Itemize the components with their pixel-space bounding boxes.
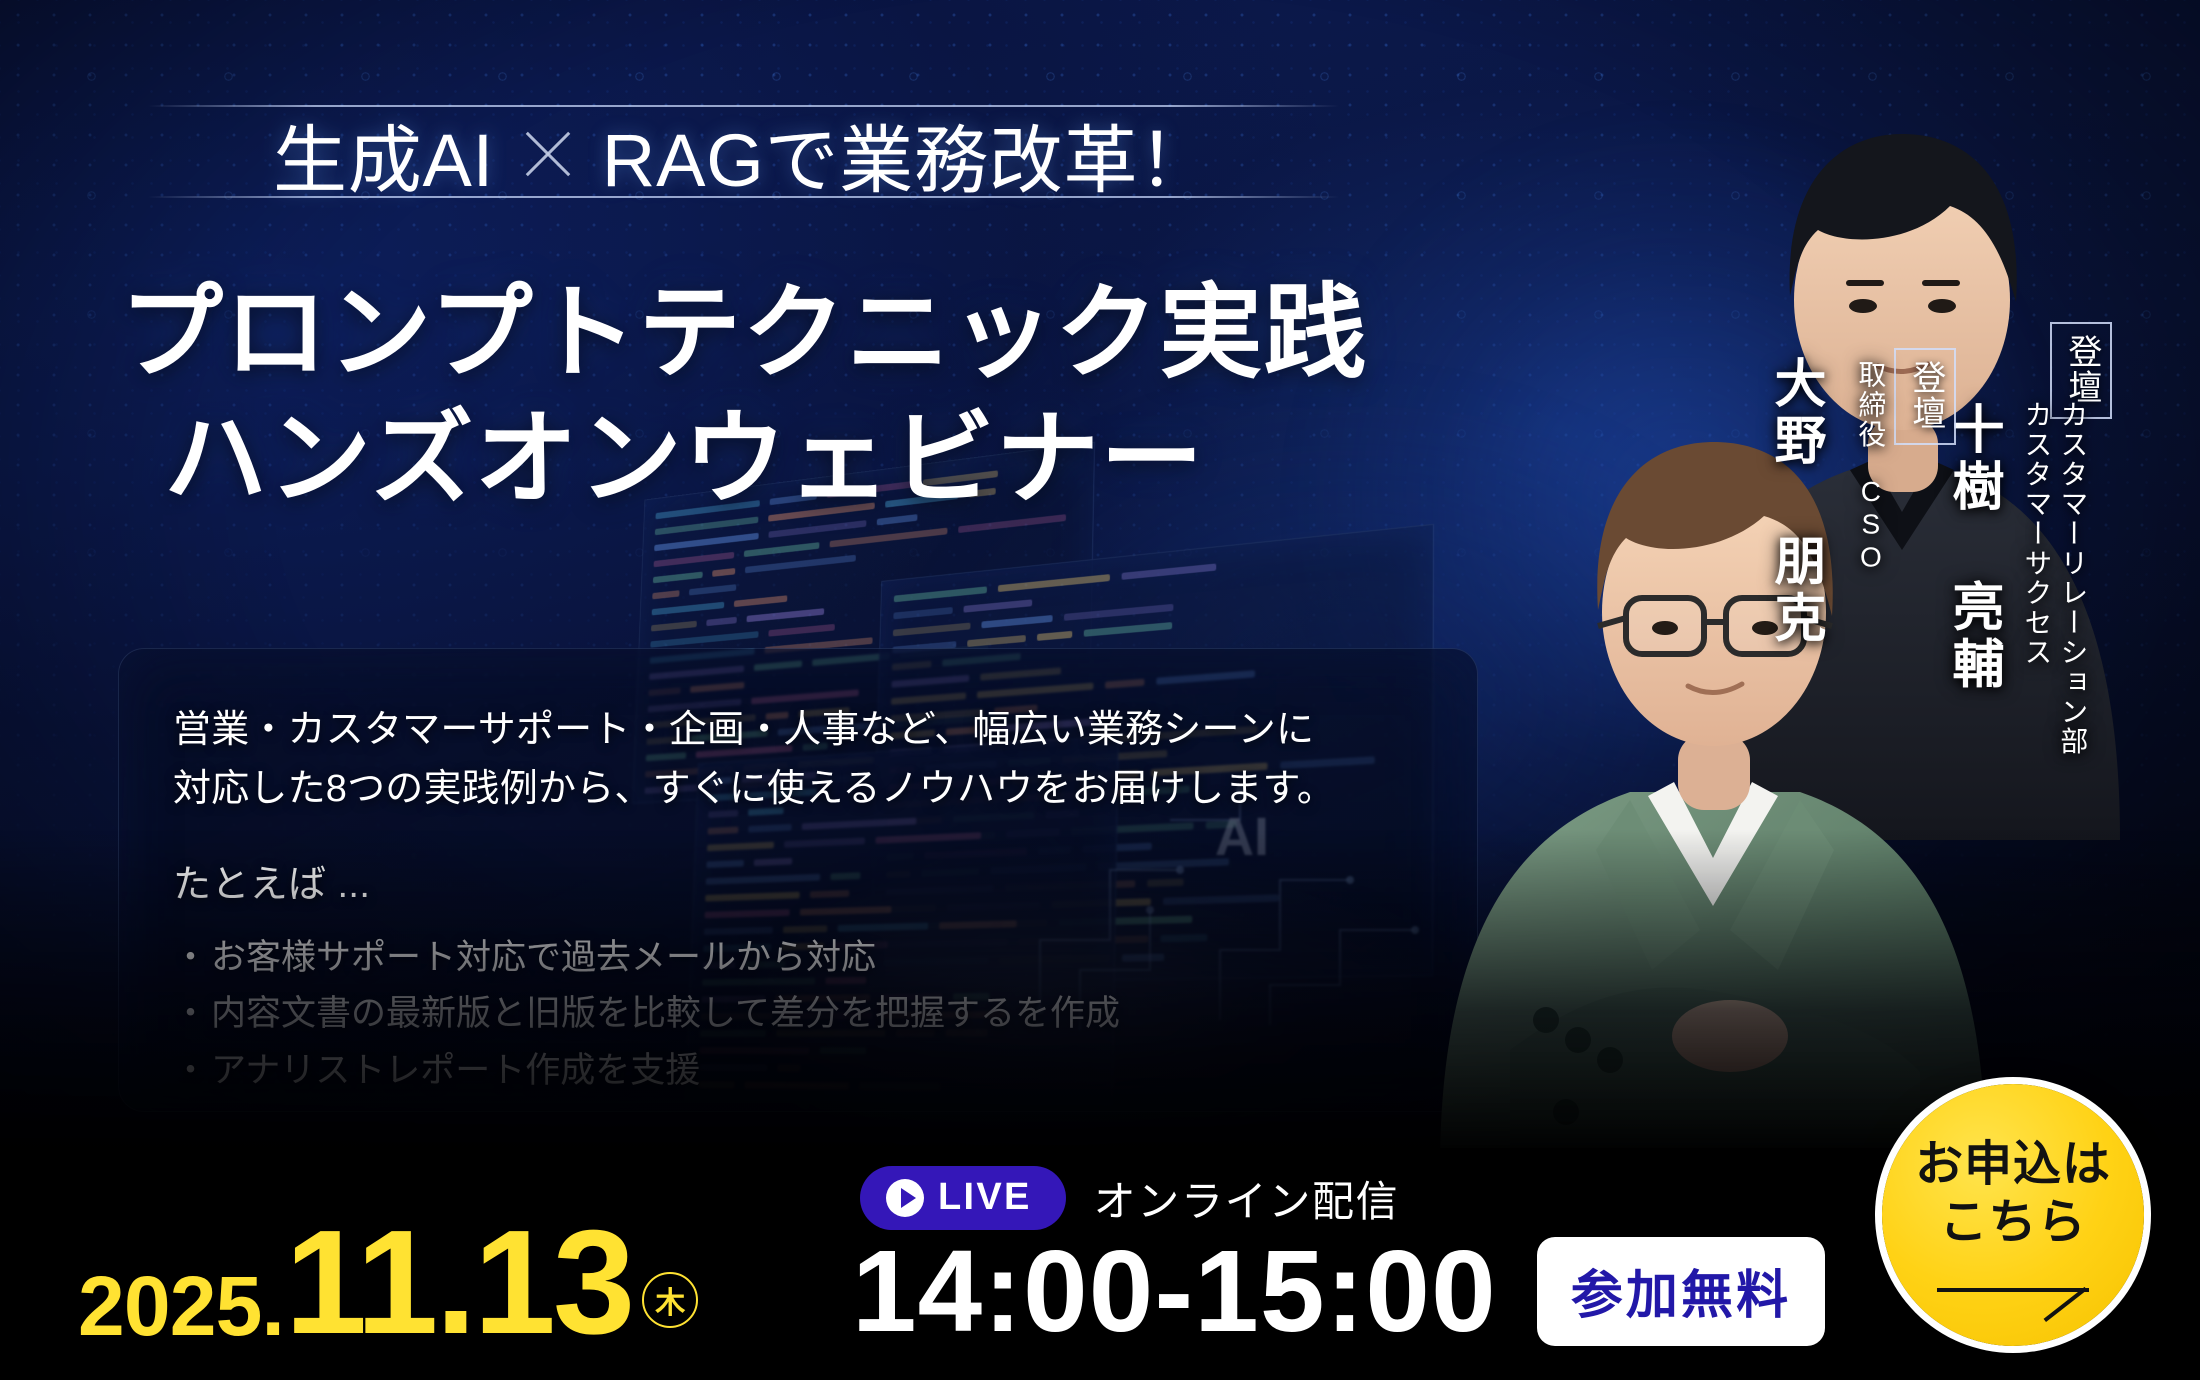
kicker-headline: 生成AI RAGで業務改革！ [148,112,1338,196]
cta-line-1: お申込は [1915,1138,2111,1192]
apply-button[interactable]: お申込は こちら [1882,1084,2144,1346]
footer-bar: 2025 . 11.13 木 LIVE オンライン配信 14:00-15:00 … [0,1148,2200,1380]
webinar-banner: AI 生成AI RAGで業務改革！ プロンプトテクニック実践 ハンズオンウェビナ… [0,0,2200,1380]
title-line-1: プロンプトテクニック実践 [120,270,1480,396]
title-line-2: ハンズオンウェビナー [164,396,1480,522]
price-badge: 参加無料 [1537,1237,1825,1346]
date-year: 2025 [78,1270,262,1342]
event-date: 2025 . 11.13 木 [78,1224,698,1342]
date-month-day: 11.13 [285,1224,632,1342]
speaker-2-role-line-2: CSO [1852,476,1888,574]
cta-line-2: こちら [1940,1196,2087,1250]
hero-section: AI 生成AI RAGで業務改革！ プロンプトテクニック実践 ハンズオンウェビナ… [0,0,2200,1160]
speaker-1-role: カスタマーサクセス [2018,400,2054,667]
page-title: プロンプトテクニック実践 ハンズオンウェビナー [120,270,1480,521]
speaker-2-name: 大野 朋克 [1758,356,1833,648]
hero-fade-to-black [0,830,2200,1160]
kicker-before: 生成AI [273,101,494,208]
date-separator: . [262,1270,285,1342]
live-badge: LIVE [860,1166,1066,1230]
time-row: 14:00-15:00 参加無料 [852,1237,1825,1346]
delivery-label: オンライン配信 [1094,1168,1400,1229]
live-badge-label: LIVE [938,1176,1032,1219]
arrow-right-icon [1937,1266,2089,1292]
speaker-2-role-line-1: 取締役 [1852,360,1888,449]
date-day-of-week: 木 [642,1272,698,1328]
play-icon [886,1179,924,1217]
speaker-1-department: カスタマーリレーション部 [2054,400,2090,756]
description-line-1: 営業・カスタマーサポート・企画・人事など、幅広い業務シーンに [173,701,1423,760]
event-time: 14:00-15:00 [852,1239,1497,1343]
live-row: LIVE オンライン配信 [860,1166,1399,1230]
kicker-after: RAGで業務改革！ [602,101,1213,208]
cross-icon [518,124,578,184]
description-line-2: 対応した8つの実践例から、すぐに使えるノウハウをお届けします。 [173,760,1423,819]
speaker-2-badge: 登壇 [1894,348,1956,445]
